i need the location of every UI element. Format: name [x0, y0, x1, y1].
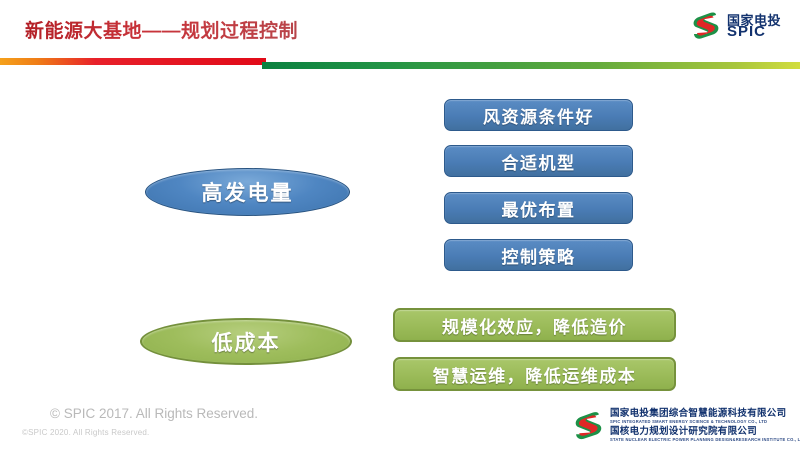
item-optimal-layout[interactable]: 最优布置 — [444, 192, 633, 224]
page-title: 新能源大基地——规划过程控制 — [25, 16, 298, 43]
node-high-power[interactable]: 高发电量 — [145, 168, 350, 216]
footer-logo-line2-cn: 国核电力规划设计研究院有限公司 — [610, 426, 800, 437]
item-wind-resource[interactable]: 风资源条件好 — [444, 99, 633, 131]
item-scale-effect[interactable]: 规模化效应，降低造价 — [393, 308, 676, 342]
spic-s-mark-icon — [690, 11, 722, 42]
spic-logo-en: SPIC — [727, 24, 766, 40]
slide-header: 新能源大基地——规划过程控制 国家电投 SPIC — [0, 0, 800, 72]
item-suitable-model[interactable]: 合适机型 — [444, 145, 633, 177]
spic-logo-footer: 国家电投集团综合智慧能源科技有限公司 SPIC INTEGRATED SMART… — [572, 407, 794, 447]
item-smart-ops[interactable]: 智慧运维，降低运维成本 — [393, 357, 676, 391]
spic-s-mark-icon — [572, 410, 605, 443]
node-low-cost[interactable]: 低成本 — [140, 318, 352, 365]
footer-logo-line1: 国家电投集团综合智慧能源科技有限公司 SPIC INTEGRATED SMART… — [610, 408, 786, 425]
footer-logo-line2: 国核电力规划设计研究院有限公司 STATE NUCLEAR ELECTRIC P… — [610, 426, 800, 443]
header-divider-left — [0, 58, 266, 65]
header-divider-right — [262, 62, 800, 69]
footer-logo-line1-cn: 国家电投集团综合智慧能源科技有限公司 — [610, 408, 786, 419]
footer-logo-line2-en: STATE NUCLEAR ELECTRIC POWER PLANNING DE… — [610, 437, 800, 443]
copyright-sub: ©SPIC 2020. All Rights Reserved. — [22, 428, 149, 437]
copyright-main: © SPIC 2017. All Rights Reserved. — [50, 406, 258, 421]
spic-logo-header: 国家电投 SPIC — [690, 9, 792, 45]
footer-logo-line1-en: SPIC INTEGRATED SMART ENERGY SCIENCE & T… — [610, 419, 786, 425]
item-control-strategy[interactable]: 控制策略 — [444, 239, 633, 271]
